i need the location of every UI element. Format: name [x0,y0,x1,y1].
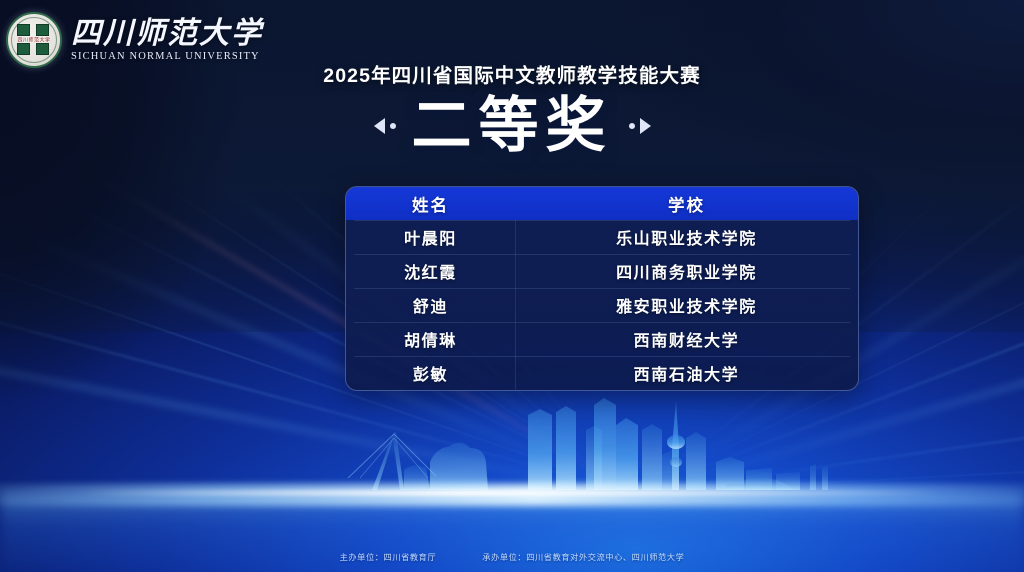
table-row: 沈红霞四川商务职业学院 [346,254,858,288]
footer: 主办单位：四川省教育厅 承办单位：四川省教育对外交流中心、四川师范大学 [0,551,1024,563]
horizon-highlight [82,490,942,496]
table-header-row: 姓名 学校 [346,187,858,220]
winners-table: 姓名 学校 叶晨阳乐山职业技术学院沈红霞四川商务职业学院舒迪雅安职业技术学院胡倩… [345,186,859,391]
table-body: 叶晨阳乐山职业技术学院沈红霞四川商务职业学院舒迪雅安职业技术学院胡倩琳西南财经大… [346,220,858,390]
award-title: 二等奖 [412,96,613,156]
left-arrow-ornament-icon [374,118,396,134]
university-name-cn: 四川师范大学 [71,18,263,50]
seal-text: 四川师范大学 [17,37,50,44]
award-screen: 四川师范大学 四川师范大学 SICHUAN NORMAL UNIVERSITY … [0,0,1024,572]
cell-name: 胡倩琳 [346,327,515,351]
cell-name: 叶晨阳 [346,225,515,249]
table-row: 叶晨阳乐山职业技术学院 [346,220,858,254]
table-row: 彭敏西南石油大学 [346,356,858,390]
table-row: 舒迪雅安职业技术学院 [346,288,858,322]
cell-school: 西南石油大学 [515,361,858,385]
cell-school: 雅安职业技术学院 [515,293,858,317]
award-title-row: 二等奖 [0,96,1024,156]
footer-co-organizer: 承办单位：四川省教育对外交流中心、四川师范大学 [482,551,684,563]
cell-school: 四川商务职业学院 [515,259,858,283]
right-arrow-ornament-icon [629,118,651,134]
cell-name: 彭敏 [346,361,515,385]
cell-name: 舒迪 [346,293,515,317]
footer-organizer: 主办单位：四川省教育厅 [340,551,437,563]
cell-name: 沈红霞 [346,259,515,283]
column-header-name: 姓名 [346,192,515,216]
cell-school: 西南财经大学 [515,327,858,351]
cell-school: 乐山职业技术学院 [515,225,858,249]
table-row: 胡倩琳西南财经大学 [346,322,858,356]
column-header-school: 学校 [515,192,858,216]
event-title: 2025年四川省国际中文教师教学技能大赛 [0,59,1024,88]
